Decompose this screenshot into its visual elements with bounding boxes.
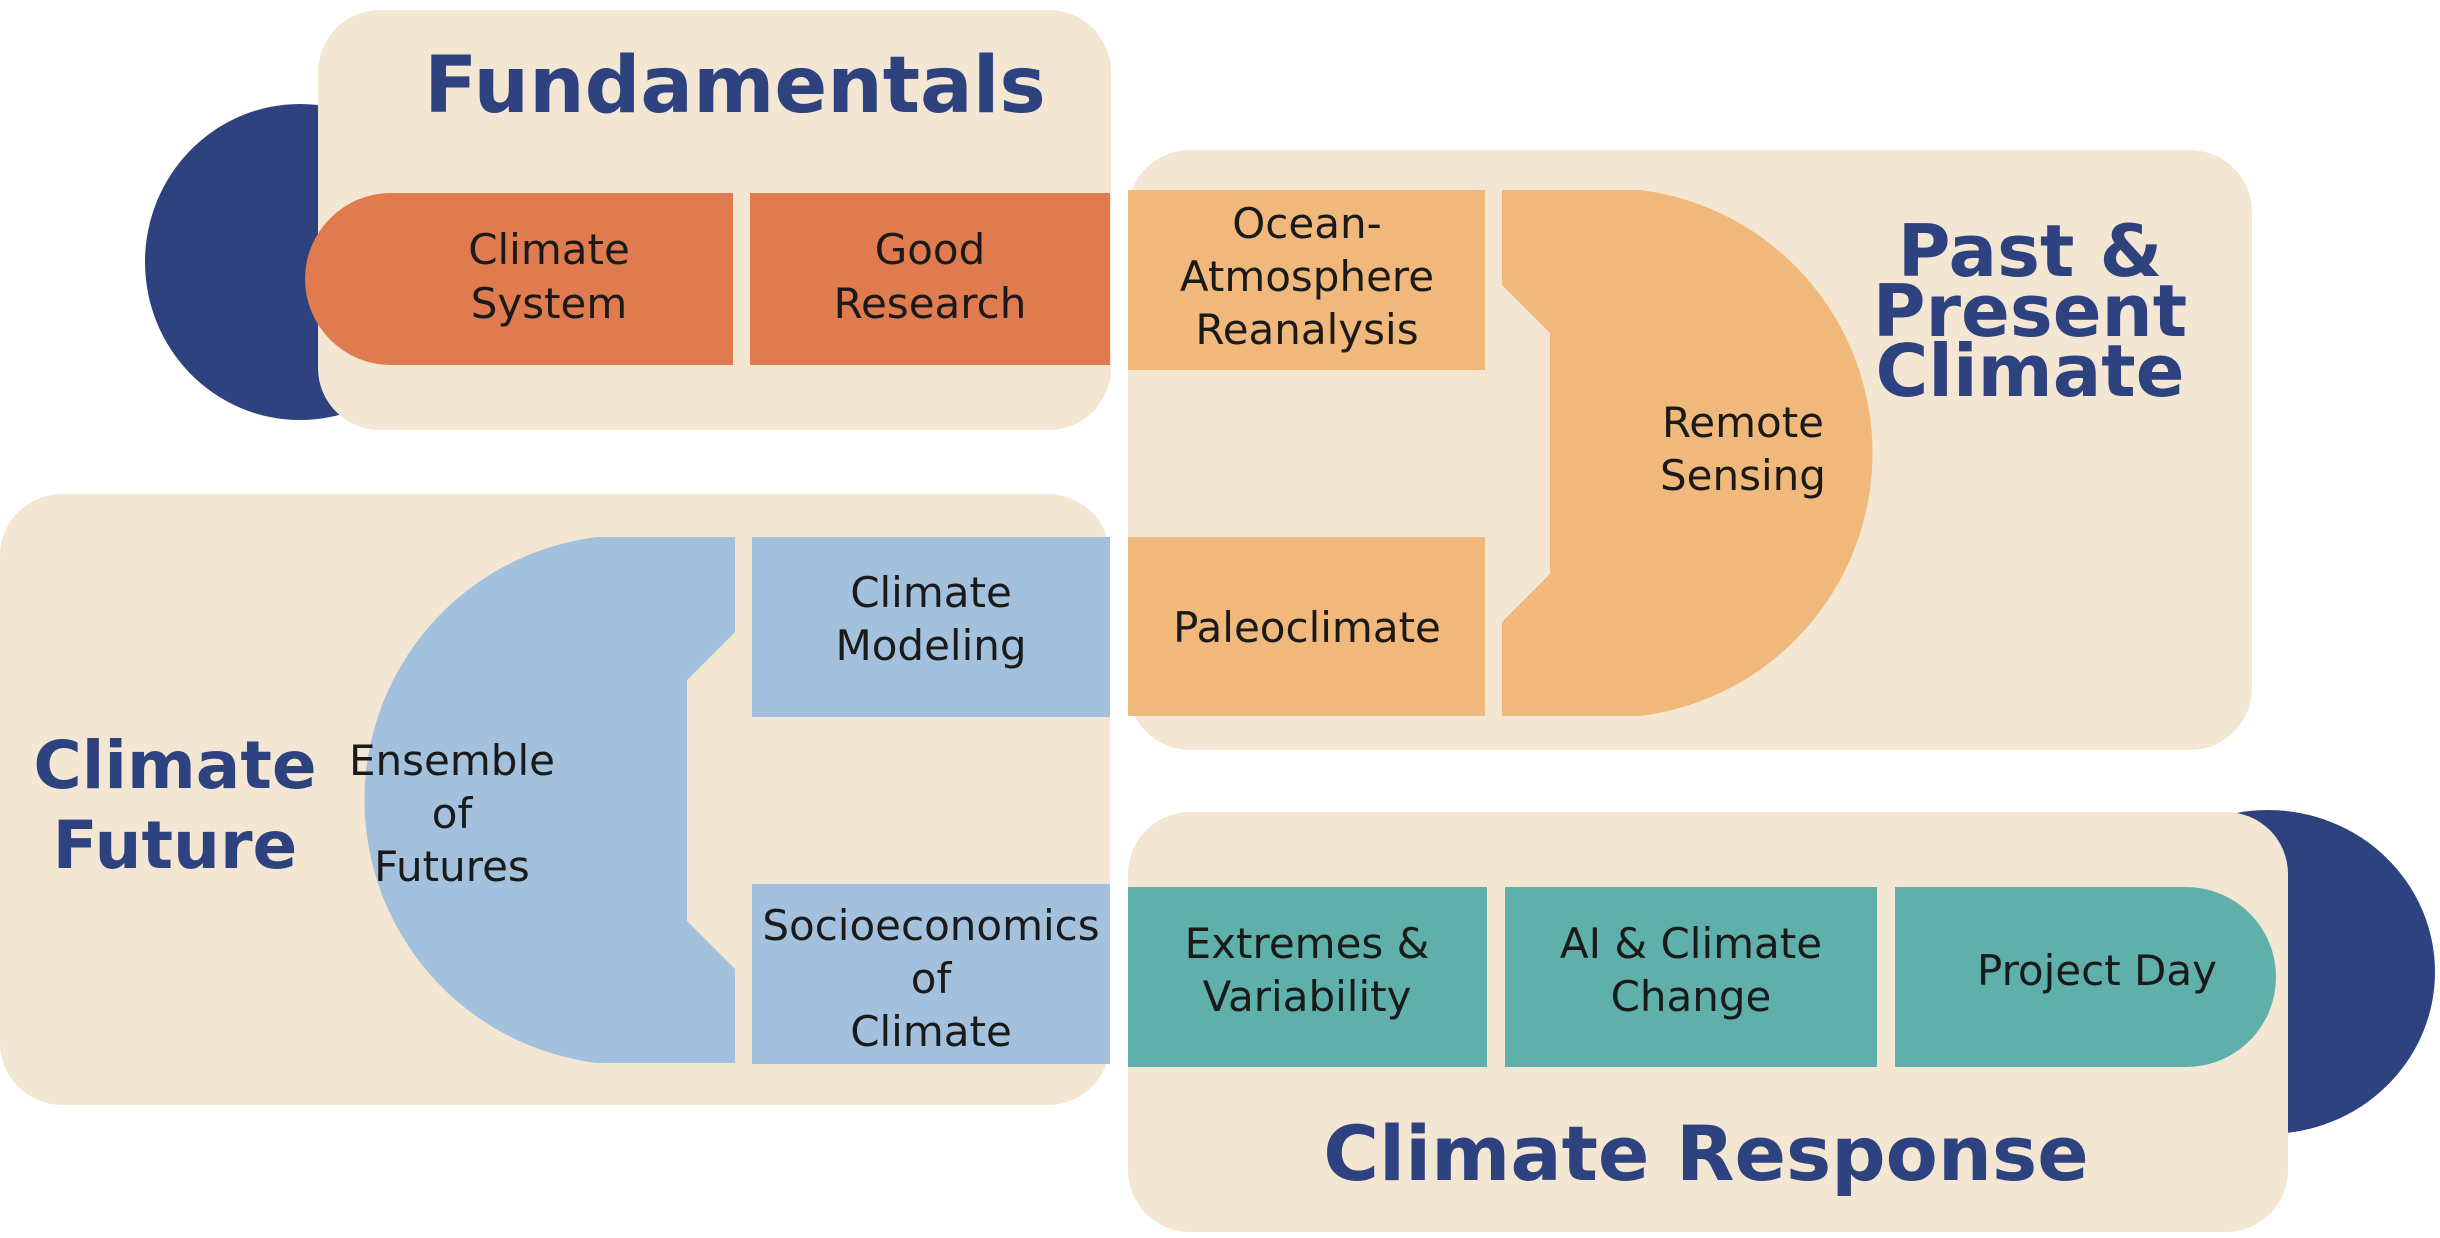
- node-ensemble-of-futures-label-line3: Futures: [374, 842, 530, 891]
- diagram-root: Fundamentals Climate System Good Researc…: [0, 0, 2440, 1238]
- group-title-past-present-line3: Climate: [1875, 329, 2184, 413]
- group-title-climate-future-line2: Future: [53, 807, 298, 884]
- node-remote-sensing-label-line1: Remote: [1662, 398, 1824, 447]
- node-ensemble-of-futures-label-line2: of: [432, 789, 474, 838]
- node-socioeconomics-of-climate-label-line2: of: [911, 954, 953, 1003]
- node-good-research-label-line1: Good: [875, 225, 986, 274]
- node-extremes-variability-label-line2: Variability: [1203, 972, 1412, 1021]
- node-paleoclimate-label-line1: Paleoclimate: [1173, 603, 1441, 652]
- node-socioeconomics-of-climate-label-line1: Socioeconomics: [762, 901, 1099, 950]
- node-ai-climate-change-label-line2: Change: [1611, 972, 1772, 1021]
- node-ensemble-of-futures-label-line1: Ensemble: [349, 736, 555, 785]
- group-past-present-climate[interactable]: Remote Sensing Ocean- Atmosphere Reanaly…: [1128, 150, 2252, 750]
- node-good-research-label-line2: Research: [834, 279, 1027, 328]
- node-project-day-label-line1: Project Day: [1977, 946, 2217, 995]
- node-socioeconomics-of-climate-label-line3: Climate: [850, 1007, 1012, 1056]
- node-extremes-variability-label-line1: Extremes &: [1185, 919, 1430, 968]
- group-title-fundamentals: Fundamentals: [424, 41, 1046, 131]
- node-climate-modeling-label-line2: Modeling: [835, 621, 1026, 670]
- node-climate-system-label-line2: System: [471, 279, 628, 328]
- group-climate-future[interactable]: Ensemble of Futures Climate Modeling Soc…: [0, 494, 1110, 1105]
- node-ocean-atmosphere-reanalysis-label-line2: Atmosphere: [1180, 252, 1434, 301]
- node-ocean-atmosphere-reanalysis-label-line1: Ocean-: [1232, 199, 1382, 248]
- node-remote-sensing-label-line2: Sensing: [1660, 451, 1826, 500]
- node-climate-system-label-line1: Climate: [468, 225, 630, 274]
- node-climate-modeling-label-line1: Climate: [850, 568, 1012, 617]
- group-title-climate-response: Climate Response: [1323, 1109, 2089, 1198]
- node-ocean-atmosphere-reanalysis-label-line3: Reanalysis: [1195, 305, 1418, 354]
- group-title-climate-future-line1: Climate: [33, 727, 316, 804]
- node-ai-climate-change-label-line1: AI & Climate: [1560, 919, 1822, 968]
- group-fundamentals[interactable]: Fundamentals Climate System Good Researc…: [145, 10, 1111, 430]
- climate-roadmap-diagram: Fundamentals Climate System Good Researc…: [0, 0, 2440, 1238]
- group-climate-response[interactable]: Climate Response Extremes & Variability …: [1128, 810, 2435, 1232]
